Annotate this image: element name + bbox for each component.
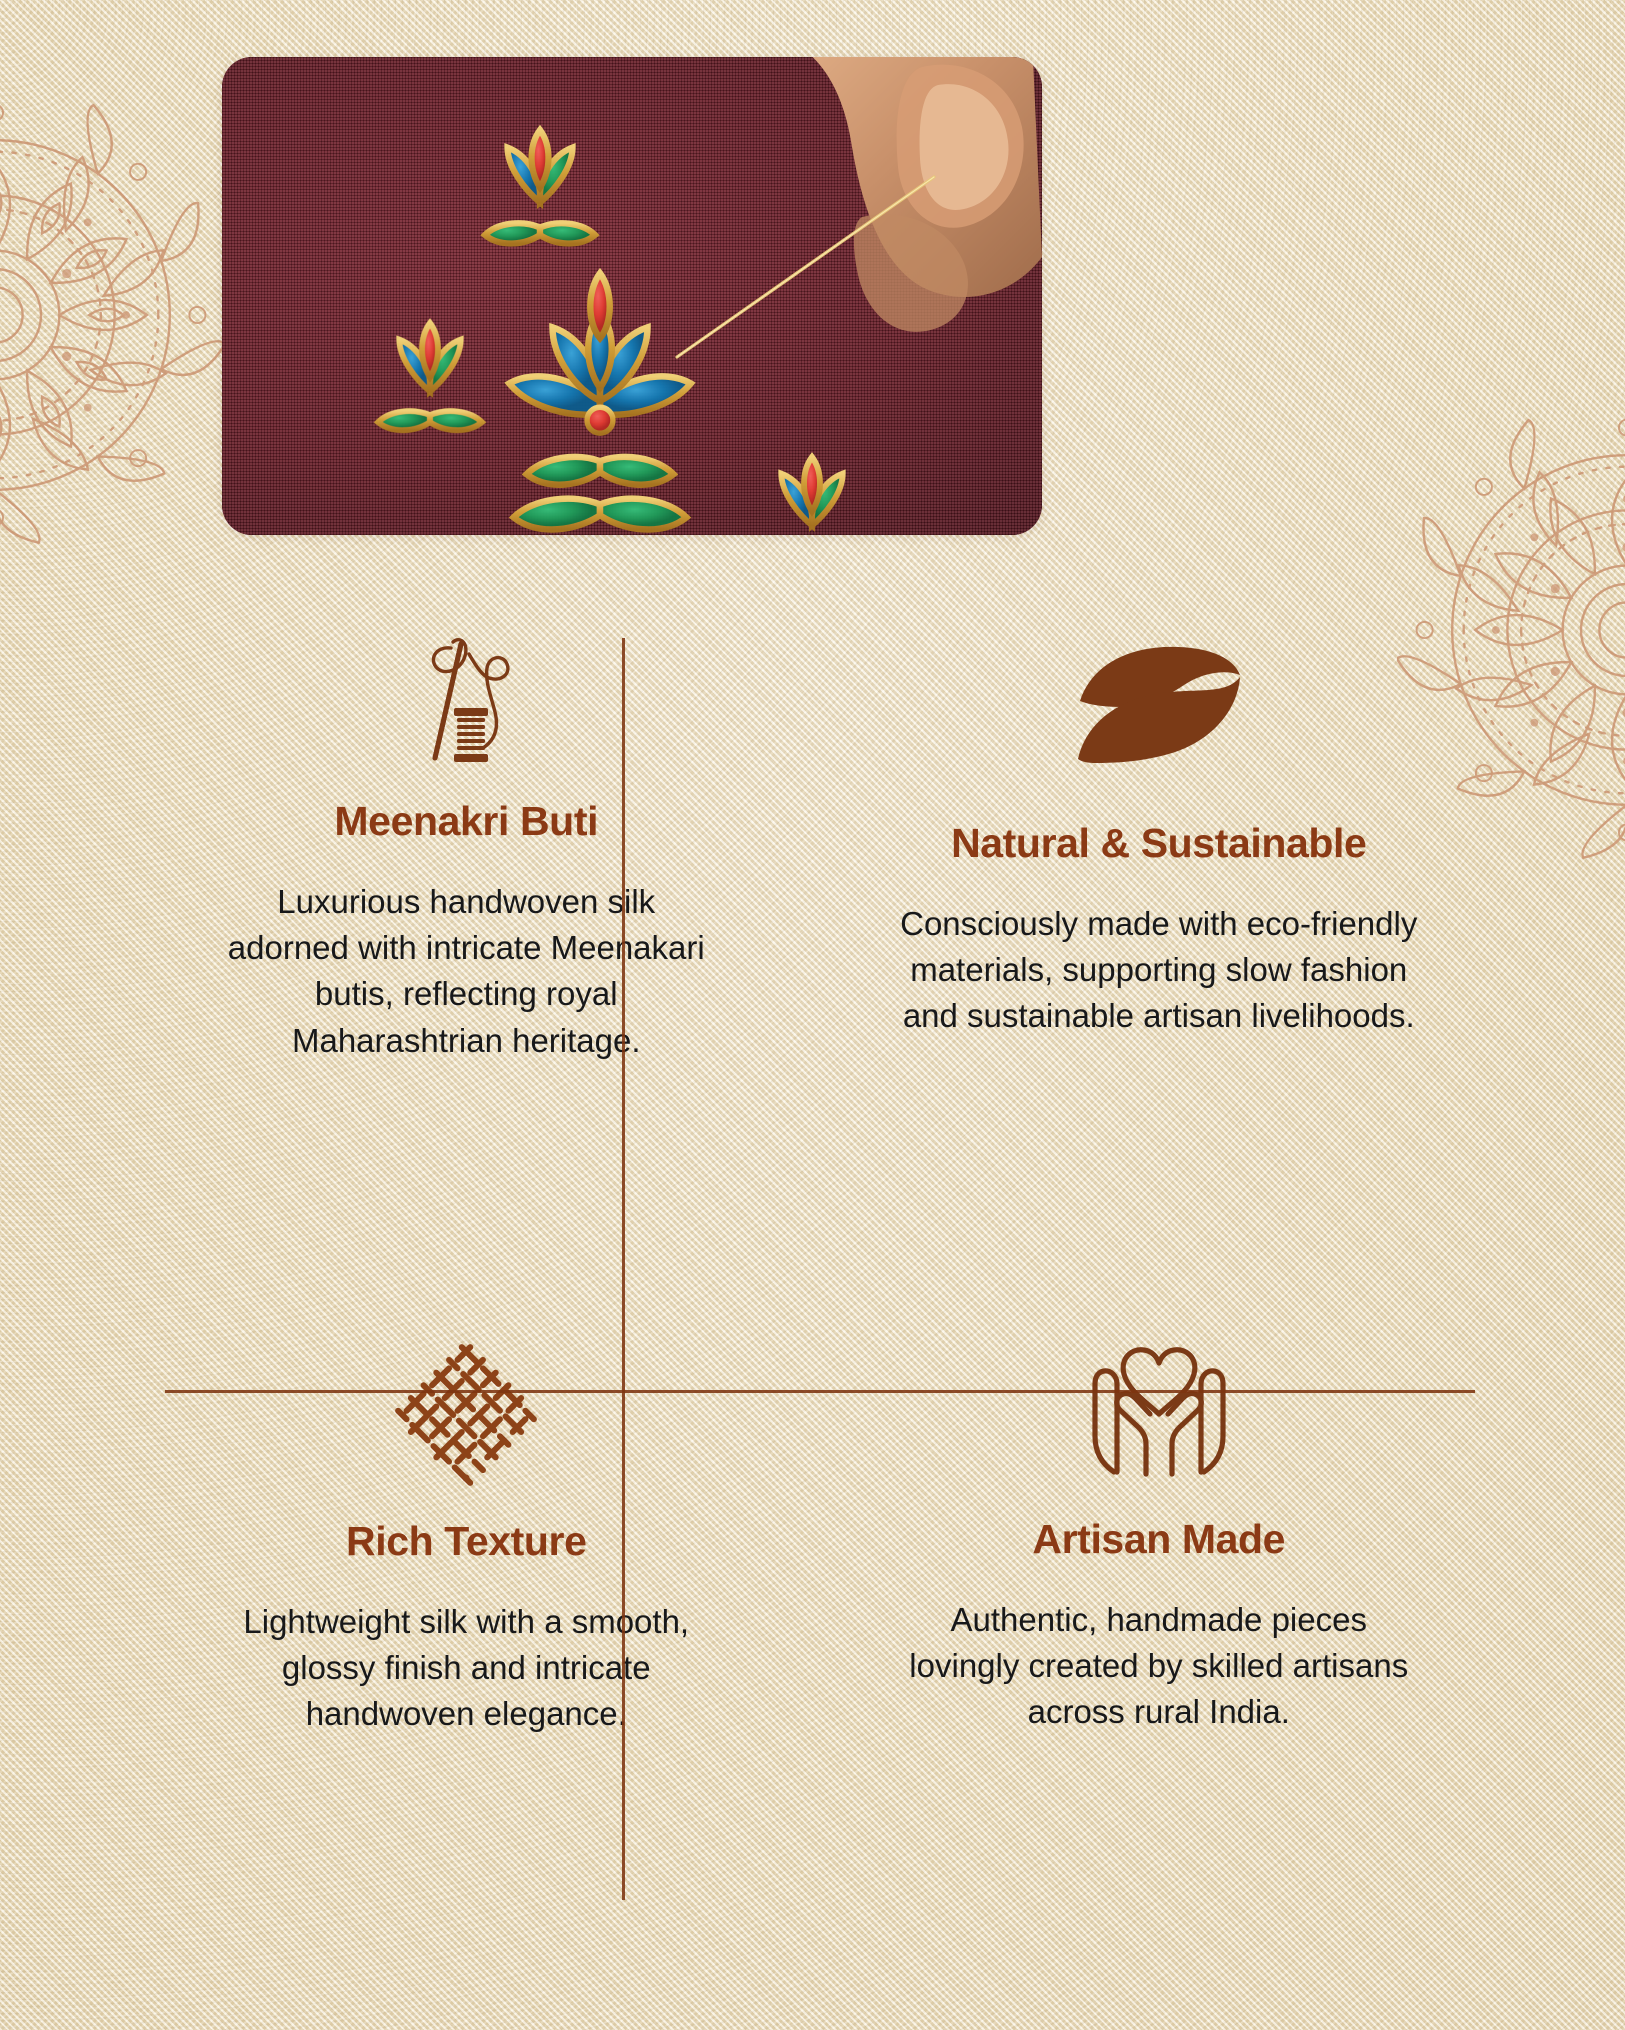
feature-card-natural-sustainable[interactable]: Natural & Sustainable Consciously made w… <box>813 620 1506 1270</box>
feature-description: Luxurious handwoven silk adorned with in… <box>216 879 716 1064</box>
leaf-icon <box>1074 645 1244 765</box>
woven-texture-diamond-icon <box>391 1340 541 1490</box>
feature-title: Artisan Made <box>1032 1516 1285 1563</box>
feature-card-meenakri-buti[interactable]: Meenakri Buti Luxurious handwoven silk a… <box>120 620 813 1270</box>
hero-embroidery-photo <box>222 57 1042 535</box>
feature-title: Natural & Sustainable <box>951 820 1366 867</box>
feature-description: Lightweight silk with a smooth, glossy f… <box>216 1599 716 1738</box>
feature-icon-wrapper <box>391 1340 541 1490</box>
feature-description: Authentic, handmade pieces lovingly crea… <box>899 1597 1419 1736</box>
feature-title: Rich Texture <box>346 1518 587 1565</box>
feature-grid: Meenakri Buti Luxurious handwoven silk a… <box>120 620 1505 1920</box>
feature-icon-wrapper <box>391 630 541 780</box>
artisan-hand <box>677 57 1042 357</box>
feature-card-artisan-made[interactable]: Artisan Made Authentic, handmade pieces … <box>813 1270 1506 1920</box>
feature-icon-wrapper <box>1074 630 1244 780</box>
grid-divider-vertical <box>622 638 625 1900</box>
grid-divider-horizontal <box>165 1390 1475 1393</box>
feature-icon-wrapper <box>1084 1340 1234 1490</box>
feature-title: Meenakri Buti <box>334 798 598 845</box>
needle-and-thread-spool-icon <box>391 630 541 780</box>
embroidery-illustration <box>222 57 1042 535</box>
feature-description: Consciously made with eco-friendly mater… <box>899 901 1419 1040</box>
hands-holding-heart-icon <box>1084 1340 1234 1490</box>
feature-card-rich-texture[interactable]: Rich Texture Lightweight silk with a smo… <box>120 1270 813 1920</box>
